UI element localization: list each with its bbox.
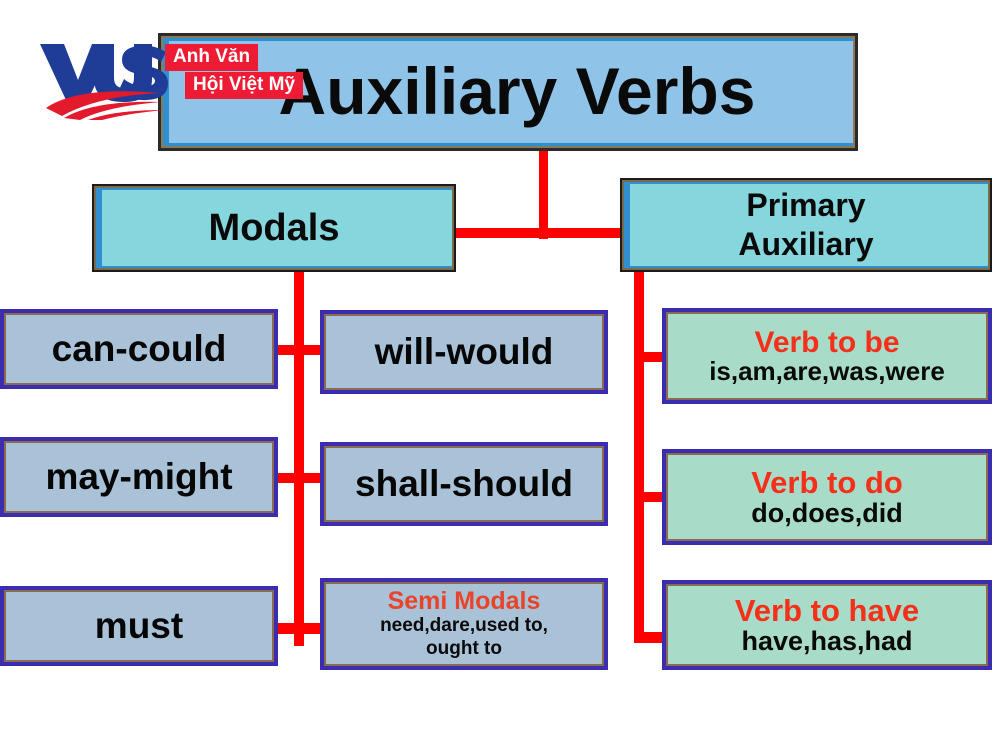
leaf-label-will-would: will-would bbox=[375, 333, 554, 371]
leaf-box-verb-to-be[interactable]: Verb to be is,am,are,was,were bbox=[662, 308, 992, 404]
connector-root-stem bbox=[539, 151, 548, 239]
leaf-label-shall-should: shall-should bbox=[355, 465, 573, 503]
semi-modals-sub-line2: ought to bbox=[426, 638, 502, 660]
page-title: Auxiliary Verbs bbox=[279, 58, 756, 125]
verb-to-do-sub: do,does,did bbox=[751, 499, 903, 527]
verb-to-do-heading: Verb to do bbox=[751, 467, 903, 500]
badge-line-anh-van: Anh Văn bbox=[165, 44, 258, 71]
category-label-primary-line1: Primary bbox=[746, 186, 865, 225]
leaf-label-must: must bbox=[95, 607, 183, 645]
semi-modals-heading: Semi Modals bbox=[388, 588, 541, 616]
vus-vietnamese-badge: Anh Văn Hội Việt Mỹ bbox=[165, 44, 303, 99]
category-label-modals: Modals bbox=[209, 209, 340, 248]
leaf-box-verb-to-do[interactable]: Verb to do do,does,did bbox=[662, 449, 992, 545]
connector-primary-trunk bbox=[634, 268, 644, 642]
leaf-label-can-could: can-could bbox=[52, 330, 227, 368]
leaf-box-can-could[interactable]: can-could bbox=[0, 309, 278, 389]
badge-line-hoi-viet-my: Hội Việt Mỹ bbox=[185, 72, 303, 99]
connector-level2-horizontal bbox=[450, 228, 646, 238]
verb-to-be-heading: Verb to be bbox=[754, 327, 899, 359]
leaf-box-shall-should[interactable]: shall-should bbox=[320, 442, 608, 526]
leaf-box-may-might[interactable]: may-might bbox=[0, 437, 278, 517]
leaf-label-may-might: may-might bbox=[45, 458, 232, 496]
diagram-canvas: Anh Văn Hội Việt Mỹ Auxiliary Verbs Moda… bbox=[0, 0, 1000, 750]
category-label-primary-line2: Auxiliary bbox=[738, 225, 873, 264]
connector-modals-crossbar-1 bbox=[274, 345, 326, 355]
leaf-box-semi-modals[interactable]: Semi Modals need,dare,used to, ought to bbox=[320, 578, 608, 670]
vus-logo bbox=[38, 38, 168, 120]
verb-to-have-sub: have,has,had bbox=[741, 627, 912, 655]
leaf-box-verb-to-have[interactable]: Verb to have have,has,had bbox=[662, 580, 992, 670]
verb-to-be-sub: is,am,are,was,were bbox=[709, 358, 945, 385]
connector-modals-crossbar-2 bbox=[274, 473, 326, 483]
category-box-primary-auxiliary[interactable]: Primary Auxiliary bbox=[620, 178, 992, 272]
semi-modals-sub-line1: need,dare,used to, bbox=[380, 615, 548, 637]
leaf-box-will-would[interactable]: will-would bbox=[320, 310, 608, 394]
category-box-modals[interactable]: Modals bbox=[92, 184, 456, 272]
connector-modals-trunk bbox=[294, 268, 304, 646]
verb-to-have-heading: Verb to have bbox=[735, 595, 919, 628]
leaf-box-must[interactable]: must bbox=[0, 586, 278, 666]
